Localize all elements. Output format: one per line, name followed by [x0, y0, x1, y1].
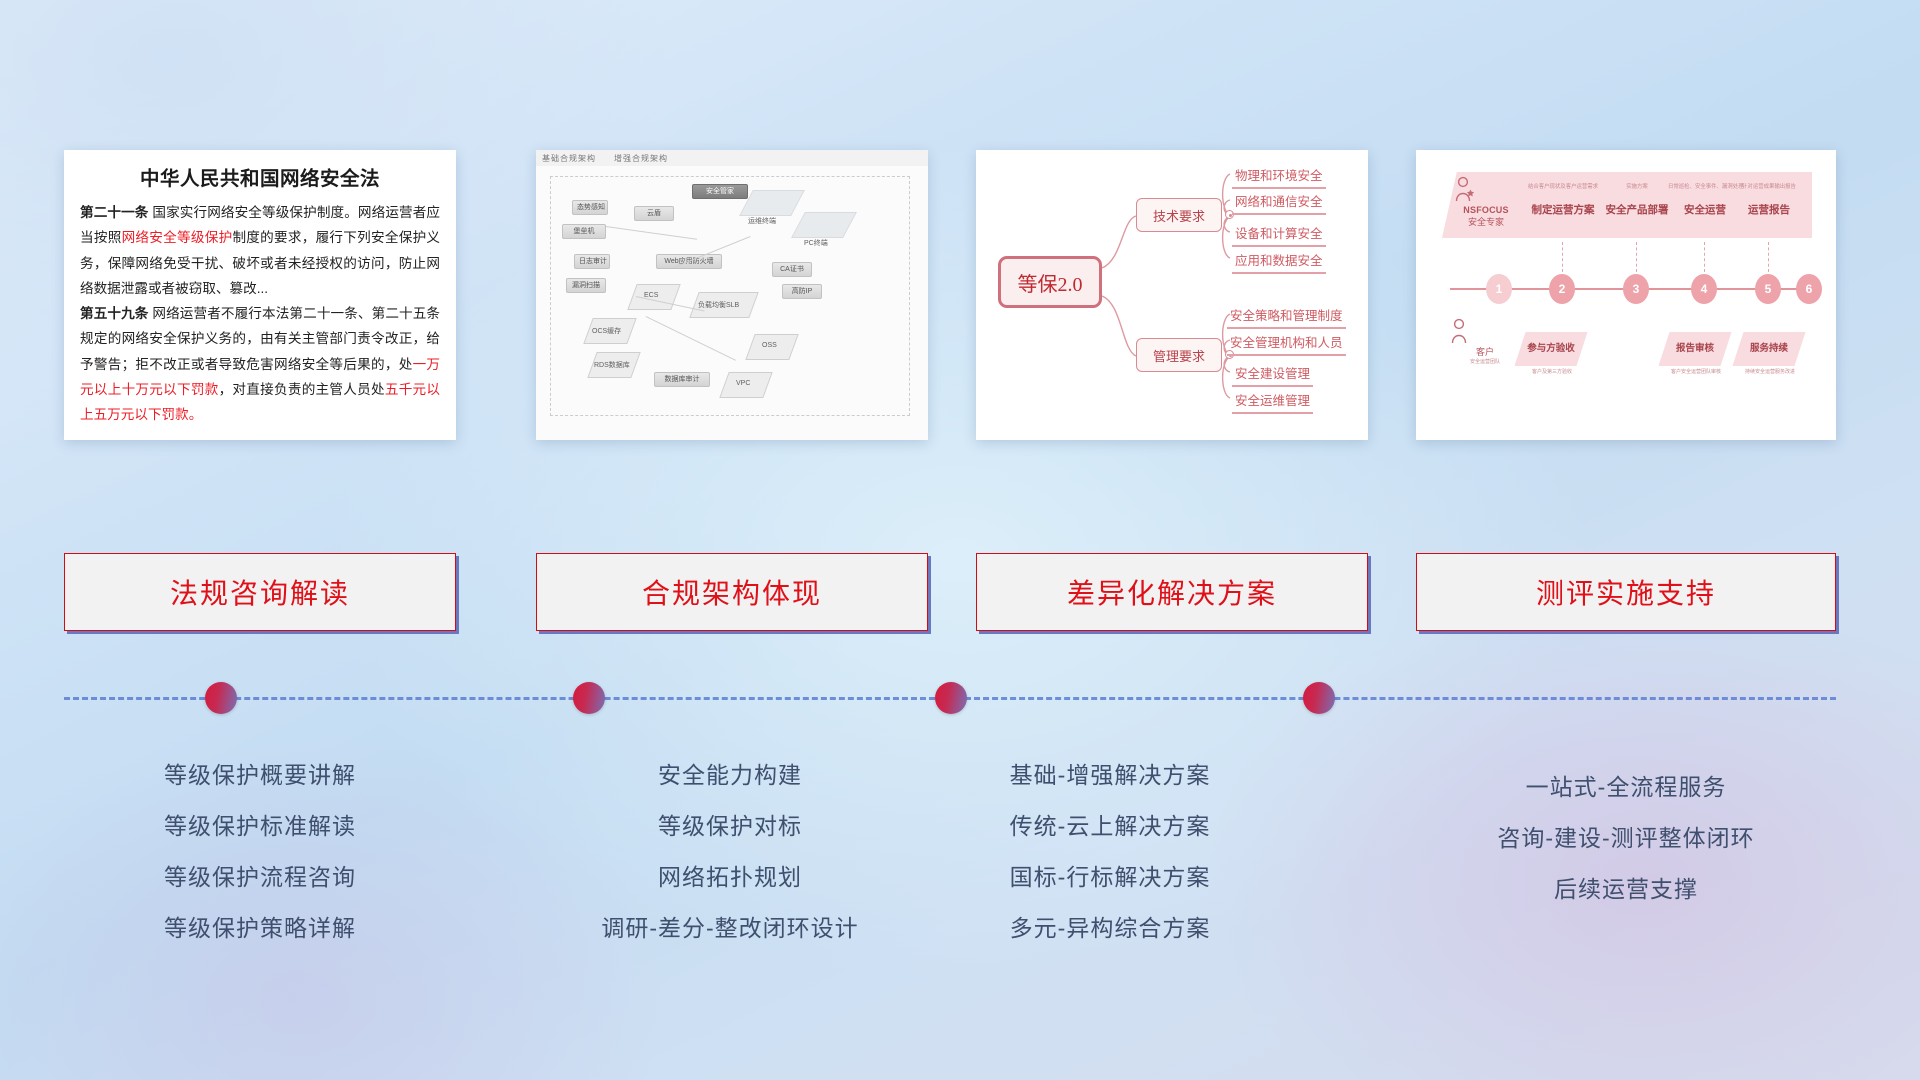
list-item: 国标-行标解决方案 — [860, 852, 1360, 903]
list-item: 一站式-全流程服务 — [1366, 762, 1886, 813]
list-column-3: 基础-增强解决方案 传统-云上解决方案 国标-行标解决方案 多元-异构综合方案 — [860, 750, 1360, 954]
list-item: 等级保护策略详解 — [64, 903, 456, 954]
timeline-dot-1[interactable] — [205, 682, 237, 714]
list-item: 等级保护概要讲解 — [64, 750, 456, 801]
list-item: 传统-云上解决方案 — [860, 801, 1360, 852]
list-item: 咨询-建设-测评整体闭环 — [1366, 813, 1886, 864]
timeline-dot-3[interactable] — [935, 682, 967, 714]
headers-row: 法规咨询解读 合规架构体现 差异化解决方案 测评实施支持 等级保护概要讲解 等级… — [0, 0, 1920, 1080]
timeline-dot-2[interactable] — [573, 682, 605, 714]
list-item: 后续运营支撑 — [1366, 864, 1886, 915]
list-column-4: 一站式-全流程服务 咨询-建设-测评整体闭环 后续运营支撑 — [1366, 762, 1886, 915]
list-item: 等级保护流程咨询 — [64, 852, 456, 903]
timeline-dot-4[interactable] — [1303, 682, 1335, 714]
header-label-3: 差异化解决方案 — [1067, 572, 1277, 612]
list-column-1: 等级保护概要讲解 等级保护标准解读 等级保护流程咨询 等级保护策略详解 — [64, 750, 456, 954]
list-item: 等级保护标准解读 — [64, 801, 456, 852]
header-label-2: 合规架构体现 — [642, 572, 822, 612]
header-box-regulation-consulting[interactable]: 法规咨询解读 — [64, 553, 456, 631]
list-item: 基础-增强解决方案 — [860, 750, 1360, 801]
header-box-compliance-architecture[interactable]: 合规架构体现 — [536, 553, 928, 631]
header-label-1: 法规咨询解读 — [170, 572, 350, 612]
list-item: 多元-异构综合方案 — [860, 903, 1360, 954]
header-label-4: 测评实施支持 — [1536, 572, 1716, 612]
header-box-differentiated-solution[interactable]: 差异化解决方案 — [976, 553, 1368, 631]
header-box-evaluation-support[interactable]: 测评实施支持 — [1416, 553, 1836, 631]
